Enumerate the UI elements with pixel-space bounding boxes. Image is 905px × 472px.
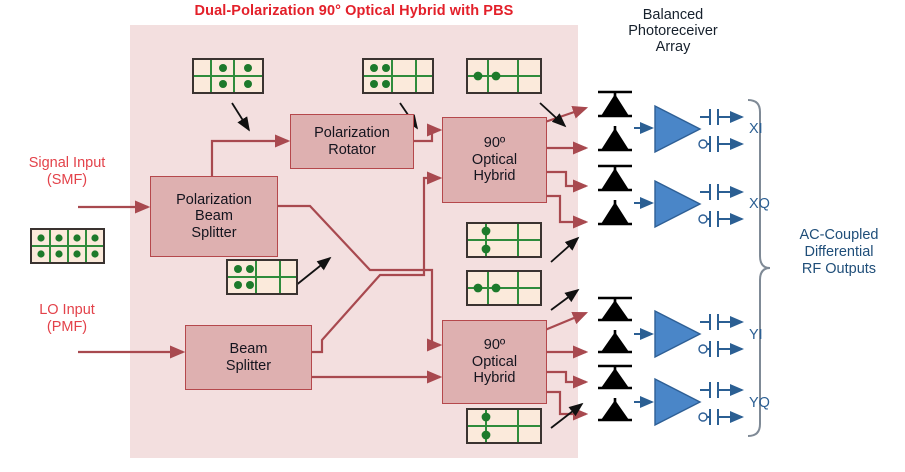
lo-input-label: LO Input (PMF) xyxy=(6,302,128,336)
polarization-rotator-label: Polarization Rotator xyxy=(291,125,413,158)
rf-output-brace xyxy=(748,100,770,436)
output-label-yi: YI xyxy=(749,327,763,343)
optical-hybrid-x[interactable]: 90º Optical Hybrid xyxy=(442,117,547,203)
pol-state-hybrid-x-top xyxy=(466,58,542,94)
pol-state-hybrid-x-mid xyxy=(466,222,542,258)
pol-state-signal-input xyxy=(30,228,105,264)
output-label-yq: YQ xyxy=(749,395,770,411)
output-label-xi: XI xyxy=(749,121,763,137)
optical-hybrid-y-label: 90º Optical Hybrid xyxy=(443,337,546,387)
optical-hybrid-x-label: 90º Optical Hybrid xyxy=(443,135,546,185)
photodiode-pairs xyxy=(598,92,632,420)
polarization-beam-splitter[interactable]: Polarization Beam Splitter xyxy=(150,176,278,257)
polarization-beam-splitter-label: Polarization Beam Splitter xyxy=(151,192,277,242)
beam-splitter-label: Beam Splitter xyxy=(186,341,311,374)
pol-state-hybrid-y-bottom xyxy=(466,408,542,444)
amplifier-stages xyxy=(634,106,742,425)
output-label-xq: XQ xyxy=(749,196,770,212)
beam-splitter[interactable]: Beam Splitter xyxy=(185,325,312,390)
rf-outputs-label: AC-Coupled Differential RF Outputs xyxy=(778,227,900,278)
pol-state-hybrid-x-low xyxy=(466,270,542,306)
pol-state-pbs-top xyxy=(192,58,264,94)
signal-input-label: Signal Input (SMF) xyxy=(6,155,128,189)
pol-state-rotator-top xyxy=(362,58,434,94)
pol-state-pbs-lower xyxy=(226,259,298,295)
optical-hybrid-y[interactable]: 90º Optical Hybrid xyxy=(442,320,547,404)
optical-receiver-diagram: Dual-Polarization 90° Optical Hybrid wit… xyxy=(0,0,905,472)
balanced-photoreceiver-array-label: Balanced Photoreceiver Array xyxy=(578,7,768,55)
polarization-rotator[interactable]: Polarization Rotator xyxy=(290,114,414,169)
